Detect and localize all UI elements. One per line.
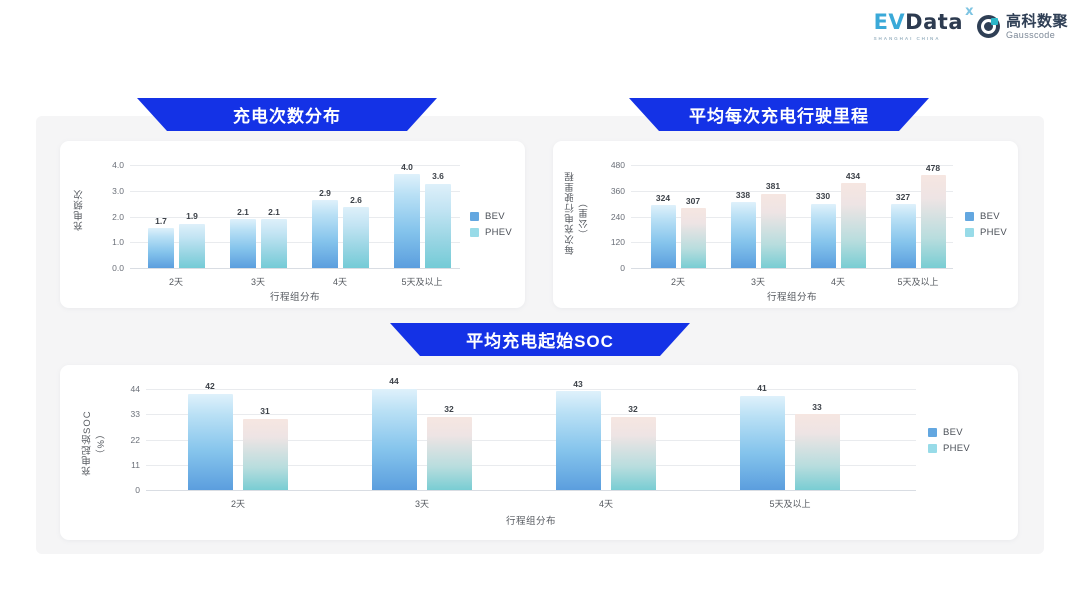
y-tick-label: 1.0: [112, 237, 124, 247]
legend-swatch-bev-icon: [928, 428, 937, 437]
y-tick-label: 0: [135, 485, 140, 495]
y-axis-unit-avg-start-soc: （%）: [96, 421, 110, 467]
evdata-wordmark: EVData x: [874, 12, 963, 33]
bar-bev: [394, 174, 420, 268]
chart-card-avg-range: 每次充电行驶里程 （公里） 480 360 240 120 0 324 307 …: [553, 141, 1018, 308]
x-axis-label: 2天: [169, 275, 183, 288]
bar-bev: [148, 228, 174, 268]
bar-phev: [841, 183, 866, 268]
legend-item-bev[interactable]: BEV: [965, 211, 1007, 222]
x-axis-label: 3天: [415, 497, 429, 510]
bar-value-label: 478: [926, 163, 940, 173]
y-tick-label: 33: [131, 409, 140, 419]
y-axis-title-charging-frequency: 充电频次: [74, 167, 88, 253]
bar-value-label: 2.1: [268, 207, 280, 217]
bar-phev: [243, 419, 288, 490]
legend-label-bev: BEV: [485, 211, 505, 222]
bar-value-label: 4.0: [401, 162, 413, 172]
legend-item-bev[interactable]: BEV: [470, 211, 512, 222]
evdata-x-superscript-icon: x: [965, 5, 974, 18]
gridline-baseline: 0: [631, 268, 953, 269]
bar-value-label: 44: [389, 376, 398, 386]
bar-value-label: 330: [816, 191, 830, 201]
bar-value-label: 2.6: [350, 195, 362, 205]
x-axis-label: 3天: [251, 275, 265, 288]
legend-avg-start-soc: BEV PHEV: [928, 427, 970, 454]
chart-card-charging-frequency: 充电频次 4.0 3.0 2.0 1.0 0.0 1.7 1.9 2天 2.1 …: [60, 141, 525, 308]
bar-value-label: 3.6: [432, 171, 444, 181]
bar-bev: [188, 394, 233, 490]
bar-value-label: 32: [628, 404, 637, 414]
bar-value-label: 42: [205, 381, 214, 391]
legend-swatch-phev-icon: [928, 444, 937, 453]
bar-bev: [731, 202, 756, 268]
x-axis-title-charging-frequency: 行程组分布: [130, 289, 460, 303]
bar-value-label: 1.9: [186, 211, 198, 221]
y-tick-label: 360: [611, 186, 625, 196]
y-tick-label: 240: [611, 212, 625, 222]
y-axis-title-avg-range: 每次充电行驶里程: [565, 161, 579, 266]
gausscode-english-name: Gausscode: [1006, 31, 1068, 40]
gridline: 44: [146, 389, 916, 390]
legend-label-bev: BEV: [943, 427, 963, 438]
bar-phev: [427, 417, 472, 490]
bar-value-label: 324: [656, 193, 670, 203]
y-tick-label: 0: [620, 263, 625, 273]
plot-area-avg-start-soc: 44 33 22 11 0 42 31 2天 44 32 3天 43 32 4天…: [146, 389, 916, 490]
legend-label-phev: PHEV: [980, 227, 1007, 238]
y-tick-label: 44: [131, 384, 140, 394]
bar-value-label: 41: [757, 383, 766, 393]
bar-bev: [891, 204, 916, 268]
bar-value-label: 2.9: [319, 188, 331, 198]
bar-phev: [761, 194, 786, 268]
y-tick-label: 120: [611, 237, 625, 247]
bar-bev: [811, 204, 836, 268]
y-tick-label: 2.0: [112, 212, 124, 222]
legend-avg-range: BEV PHEV: [965, 211, 1007, 238]
x-axis-label: 5天及以上: [897, 275, 938, 288]
chart-title-banner-charging-frequency: 充电次数分布: [137, 98, 437, 131]
evdata-subtitle: SHANGHAI CHINA: [874, 36, 941, 41]
legend-swatch-bev-icon: [965, 212, 974, 221]
bar-value-label: 327: [896, 192, 910, 202]
legend-item-phev[interactable]: PHEV: [470, 227, 512, 238]
bar-bev: [312, 200, 338, 268]
legend-label-phev: PHEV: [485, 227, 512, 238]
chart-title-banner-avg-range: 平均每次充电行驶里程: [629, 98, 929, 131]
bar-value-label: 43: [573, 379, 582, 389]
legend-item-phev[interactable]: PHEV: [928, 443, 970, 454]
bar-value-label: 33: [812, 402, 821, 412]
legend-swatch-phev-icon: [965, 228, 974, 237]
bar-value-label: 381: [766, 181, 780, 191]
bar-phev: [343, 207, 369, 268]
x-axis-title-avg-range: 行程组分布: [631, 289, 953, 303]
gridline-baseline: 0.0: [130, 268, 460, 269]
y-axis-title-avg-start-soc: 充电起始SOC: [82, 393, 96, 493]
bar-phev: [611, 417, 656, 490]
chart-card-avg-start-soc: 充电起始SOC （%） 44 33 22 11 0 42 31 2天 44 32…: [60, 365, 1018, 540]
x-axis-label: 4天: [831, 275, 845, 288]
bar-value-label: 2.1: [237, 207, 249, 217]
x-axis-label: 5天及以上: [401, 275, 442, 288]
y-axis-unit-avg-range: （公里）: [579, 187, 593, 249]
y-tick-label: 22: [131, 435, 140, 445]
bar-value-label: 1.7: [155, 216, 167, 226]
bar-value-label: 32: [444, 404, 453, 414]
x-axis-title-avg-start-soc: 行程组分布: [146, 513, 916, 527]
bar-phev: [179, 224, 205, 269]
y-tick-label: 11: [131, 460, 140, 470]
bar-bev: [556, 391, 601, 490]
bar-bev: [230, 219, 256, 268]
plot-area-charging-frequency: 4.0 3.0 2.0 1.0 0.0 1.7 1.9 2天 2.1 2.1 3…: [130, 165, 460, 268]
y-tick-label: 4.0: [112, 160, 124, 170]
bar-value-label: 338: [736, 190, 750, 200]
legend-item-phev[interactable]: PHEV: [965, 227, 1007, 238]
bar-bev: [372, 389, 417, 490]
header-logo-bar: EVData x SHANGHAI CHINA 高科数聚 Gausscode: [874, 12, 1068, 41]
gausscode-circle-mark-icon: [977, 15, 1000, 38]
legend-label-phev: PHEV: [943, 443, 970, 454]
bar-phev: [795, 414, 840, 490]
bar-value-label: 31: [260, 406, 269, 416]
y-tick-label: 480: [611, 160, 625, 170]
x-axis-label: 2天: [231, 497, 245, 510]
evdata-ev-text: EV: [874, 10, 906, 34]
x-axis-label: 5天及以上: [769, 497, 810, 510]
bar-phev: [261, 219, 287, 268]
bar-bev: [651, 205, 676, 268]
bar-bev: [740, 396, 785, 490]
x-axis-label: 4天: [333, 275, 347, 288]
legend-charging-frequency: BEV PHEV: [470, 211, 512, 238]
x-axis-label: 3天: [751, 275, 765, 288]
legend-item-bev[interactable]: BEV: [928, 427, 970, 438]
legend-swatch-bev-icon: [470, 212, 479, 221]
y-tick-label: 3.0: [112, 186, 124, 196]
x-axis-label: 4天: [599, 497, 613, 510]
x-axis-label: 2天: [671, 275, 685, 288]
bar-value-label: 307: [686, 196, 700, 206]
legend-swatch-phev-icon: [470, 228, 479, 237]
bar-value-label: 434: [846, 171, 860, 181]
gridline-baseline: 0: [146, 490, 916, 491]
bar-phev: [681, 208, 706, 268]
y-tick-label: 0.0: [112, 263, 124, 273]
bar-phev: [425, 184, 451, 268]
gausscode-logo: 高科数聚 Gausscode: [977, 14, 1068, 40]
chart-title-banner-avg-start-soc: 平均充电起始SOC: [390, 323, 690, 356]
gridline: 480: [631, 165, 953, 166]
evdata-logo: EVData x SHANGHAI CHINA: [874, 12, 963, 41]
gausscode-chinese-name: 高科数聚: [1006, 14, 1068, 29]
legend-label-bev: BEV: [980, 211, 1000, 222]
plot-area-avg-range: 480 360 240 120 0 324 307 2天 338 381 3天 …: [631, 165, 953, 268]
bar-phev: [921, 175, 946, 268]
evdata-data-text: Data: [905, 10, 963, 34]
